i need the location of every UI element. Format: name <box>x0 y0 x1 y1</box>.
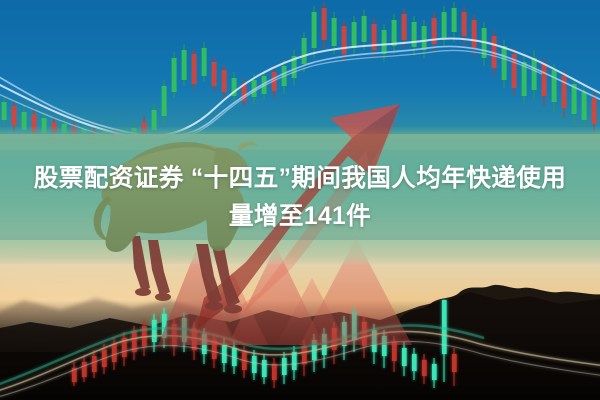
headline-line-2: 量增至141件 <box>0 198 600 236</box>
headline: 股票配资证券 “十四五”期间我国人均年快递使用 量增至141件 <box>0 160 600 236</box>
headline-line-1: 股票配资证券 “十四五”期间我国人均年快递使用 <box>0 160 600 198</box>
cover-image: 股票配资证券 “十四五”期间我国人均年快递使用 量增至141件 <box>0 0 600 400</box>
